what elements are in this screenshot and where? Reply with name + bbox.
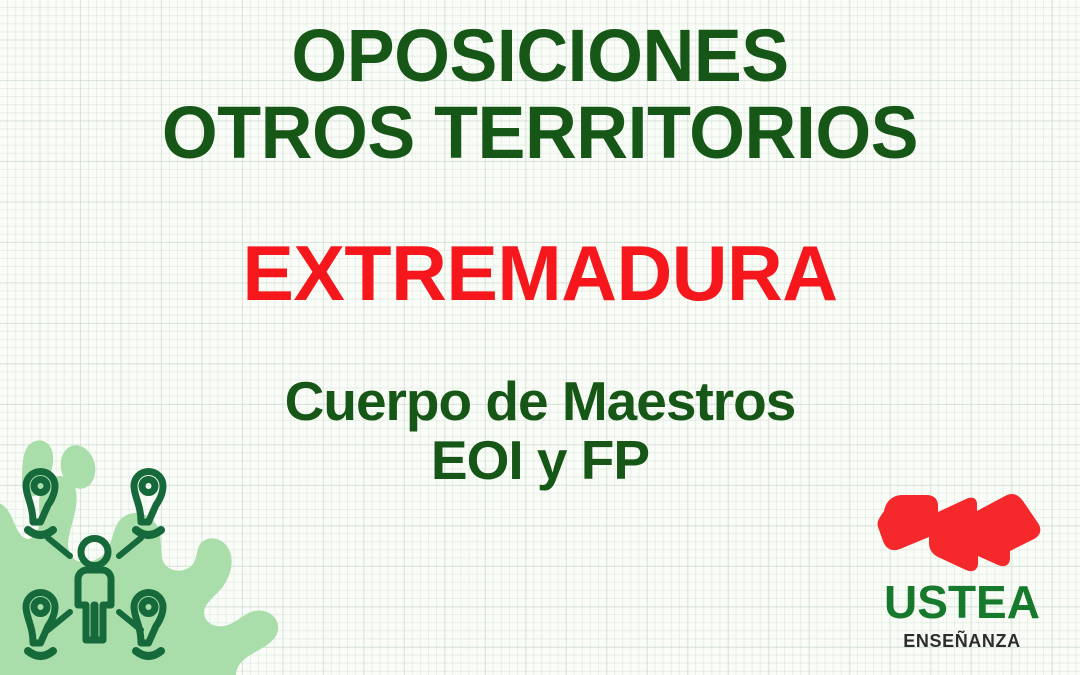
ustea-wordmark: USTEA — [872, 579, 1052, 625]
subtitle-line-cuerpo-de-maestros: Cuerpo de Maestros — [0, 372, 1080, 431]
network-illustration — [0, 430, 300, 675]
poster-canvas: OPOSICIONES OTROS TERRITORIOS EXTREMADUR… — [0, 0, 1080, 675]
ustea-lightning-flag-icon — [876, 487, 1048, 575]
title-line-oposiciones: OPOSICIONES — [16, 22, 1064, 91]
region-title-extremadura: EXTREMADURA — [5, 234, 1074, 312]
headline-block: OPOSICIONES OTROS TERRITORIOS EXTREMADUR… — [0, 22, 1080, 312]
ustea-logo: USTEA ENSEÑANZA — [872, 487, 1052, 659]
title-line-otros-territorios: OTROS TERRITORIOS — [16, 99, 1064, 168]
ustea-tagline: ENSEÑANZA — [872, 632, 1052, 650]
